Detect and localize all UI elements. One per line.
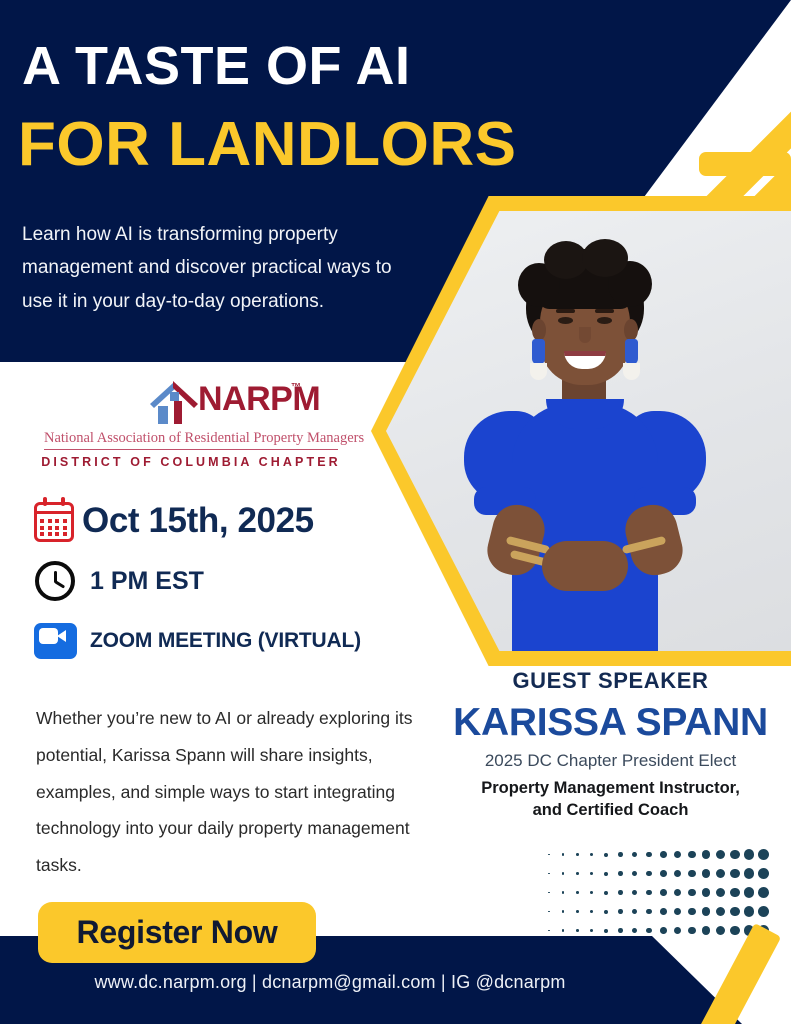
dot [618,852,623,857]
event-time: 1 PM EST [90,567,204,596]
dot [716,907,725,916]
event-details-list: Oct 15th, 2025 1 PM EST ZOOM MEETING (VI… [30,498,361,678]
dot [548,873,550,875]
portrait-ear-right [624,319,638,341]
dot [548,892,550,894]
dot [576,929,579,932]
guest-speaker-label: GUEST SPEAKER [430,668,791,694]
portrait-eyebrow-right [595,309,614,313]
dot [646,928,652,934]
footer-contact-info: www.dc.narpm.org | dcnarpm@gmail.com | I… [0,972,660,993]
logo-tagline: National Association of Residential Prop… [44,430,338,450]
portrait-nose [579,327,591,343]
dot [688,908,696,916]
speaker-photo-hexagon [371,196,791,666]
dot [716,850,725,859]
dot [618,928,623,933]
dot [702,850,711,859]
dot [590,853,593,856]
dot-grid-row [548,902,772,921]
dot [632,909,637,914]
dot [576,853,579,856]
calendar-icon [30,498,82,544]
dot [660,851,667,858]
trademark-icon: ™ [291,382,301,393]
dot [632,928,637,933]
register-now-button[interactable]: Register Now [38,902,316,963]
portrait-eyebrow-left [556,309,575,313]
detail-row-location: ZOOM MEETING (VIRTUAL) [30,618,361,664]
portrait-earring-right [625,339,638,365]
dot [604,853,608,857]
decorative-stripe-5 [699,152,791,176]
dot [730,907,740,917]
event-description: Whether you’re new to AI or already expl… [36,700,426,884]
portrait-eye-right [597,317,612,324]
portrait-ear-left [532,319,546,341]
dot [758,849,769,860]
dot [688,889,696,897]
dot [562,872,564,874]
dot [576,910,579,913]
event-location: ZOOM MEETING (VIRTUAL) [90,629,361,653]
dot [660,870,667,877]
speaker-portrait-image [386,211,791,651]
dot [688,870,696,878]
dot [702,926,711,935]
dot [562,891,564,893]
dot [674,870,681,877]
dot [730,888,740,898]
dot [660,927,667,934]
dot [716,926,725,935]
dot [674,908,681,915]
dot [562,910,564,912]
portrait-earring-tassel-right [623,363,640,380]
dot [702,907,711,916]
dot [632,890,637,895]
narpm-logo: NARPM ™ National Association of Resident… [38,372,344,469]
portrait-earring-left [532,339,545,365]
dot [674,927,681,934]
dot [576,872,579,875]
dot [744,906,754,916]
dot [716,888,725,897]
zoom-video-icon [30,618,82,664]
dot [618,909,623,914]
logo-mark: NARPM ™ [38,372,344,428]
dot [758,906,769,917]
dot [730,869,740,879]
speaker-title-line1: Property Management Instructor, [430,777,791,799]
house-icon [146,378,202,426]
dot [688,851,696,859]
dot [590,891,593,894]
portrait-eye-left [558,317,573,324]
dot [702,869,711,878]
dot [744,887,754,897]
dot [716,869,725,878]
dot [548,930,550,932]
speaker-role: 2025 DC Chapter President Elect [430,751,791,771]
detail-row-time: 1 PM EST [30,558,361,604]
dot [590,910,593,913]
portrait-earring-tassel-left [530,363,547,380]
dot [730,926,740,936]
logo-chapter-name: DISTRICT OF COLUMBIA CHAPTER [38,455,344,469]
dot [744,868,754,878]
page-subtitle: Learn how AI is transforming property ma… [22,218,422,318]
dot [674,851,681,858]
poster-flyer: A TASTE OF AI FOR LANDLORS Learn how AI … [0,0,791,1024]
dot [604,891,608,895]
dot [646,909,652,915]
dot [548,854,550,856]
dot [674,889,681,896]
page-title-line2: FOR LANDLORS [18,112,517,177]
dot [758,887,769,898]
speaker-info: GUEST SPEAKER KARISSA SPANN 2025 DC Chap… [430,668,791,821]
dot [576,891,579,894]
page-title-line1: A TASTE OF AI [22,38,410,95]
portrait-skirt [520,599,652,651]
dot [660,889,667,896]
dot [590,929,593,932]
dot-grid-row [548,864,772,883]
dot [590,872,593,875]
dot [562,853,564,855]
dot [646,871,652,877]
dot [618,871,623,876]
clock-icon [30,558,82,604]
dot [618,890,623,895]
detail-row-date: Oct 15th, 2025 [30,498,361,544]
dot-grid-row [548,845,772,864]
dot-grid-decoration [548,845,772,940]
dot [688,927,696,935]
dot [604,929,608,933]
speaker-title-line2: and Certified Coach [430,799,791,821]
dot [548,911,550,913]
logo-wordmark: NARPM [198,380,320,419]
dot [744,849,754,859]
dot [758,868,769,879]
dot [646,890,652,896]
portrait-hair-curl-4 [582,239,628,277]
dot [646,852,652,858]
dot [604,910,608,914]
portrait-hands [542,541,628,591]
speaker-name: KARISSA SPANN [430,702,791,745]
dot [660,908,667,915]
event-date: Oct 15th, 2025 [82,501,314,541]
dot [632,852,637,857]
dot [702,888,711,897]
dot [730,850,740,860]
speaker-title: Property Management Instructor, and Cert… [430,777,791,822]
dot [604,872,608,876]
dot-grid-row [548,883,772,902]
dot [632,871,637,876]
dot [562,929,564,931]
